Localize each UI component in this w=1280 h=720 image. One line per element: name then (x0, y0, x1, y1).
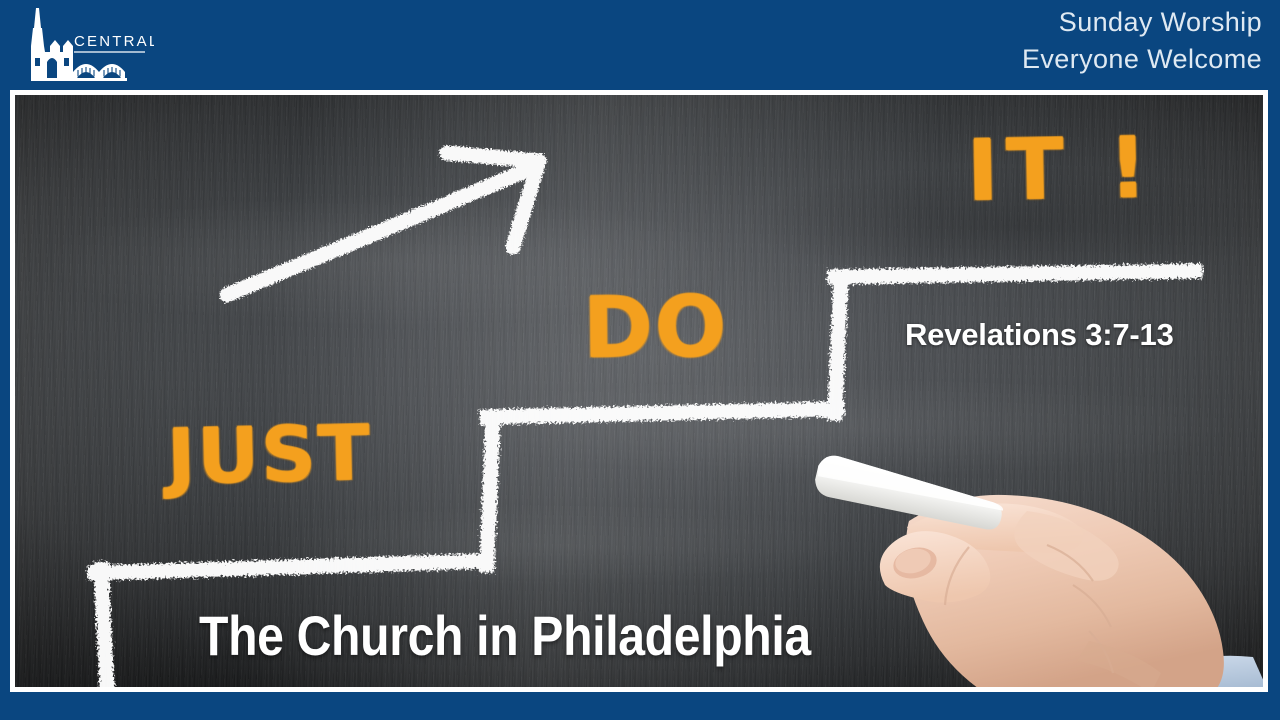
chalk-word-it: IT ! (966, 125, 1156, 212)
slide-header: CENTRAL Sunday Worship Everyone Welcome (0, 0, 1280, 88)
header-line-1: Sunday Worship (1022, 4, 1262, 41)
header-tagline: Sunday Worship Everyone Welcome (1022, 4, 1262, 78)
verse-reference: Revelations 3:7-13 (905, 317, 1174, 353)
church-logo[interactable]: CENTRAL (14, 6, 154, 84)
chalk-word-just: JUST (166, 415, 372, 495)
chalk-word-do: DO (583, 284, 729, 370)
slide-title: The Church in Philadelphia (199, 603, 811, 668)
upward-arrow-icon (227, 153, 539, 295)
chalkboard: JUST DO IT ! Revelations 3:7-13 The Chur… (15, 95, 1263, 687)
header-line-2: Everyone Welcome (1022, 41, 1262, 78)
logo-wordmark: CENTRAL (74, 33, 154, 50)
presentation-slide: CENTRAL Sunday Worship Everyone Welcome (0, 0, 1280, 720)
slide-frame: JUST DO IT ! Revelations 3:7-13 The Chur… (10, 90, 1268, 692)
